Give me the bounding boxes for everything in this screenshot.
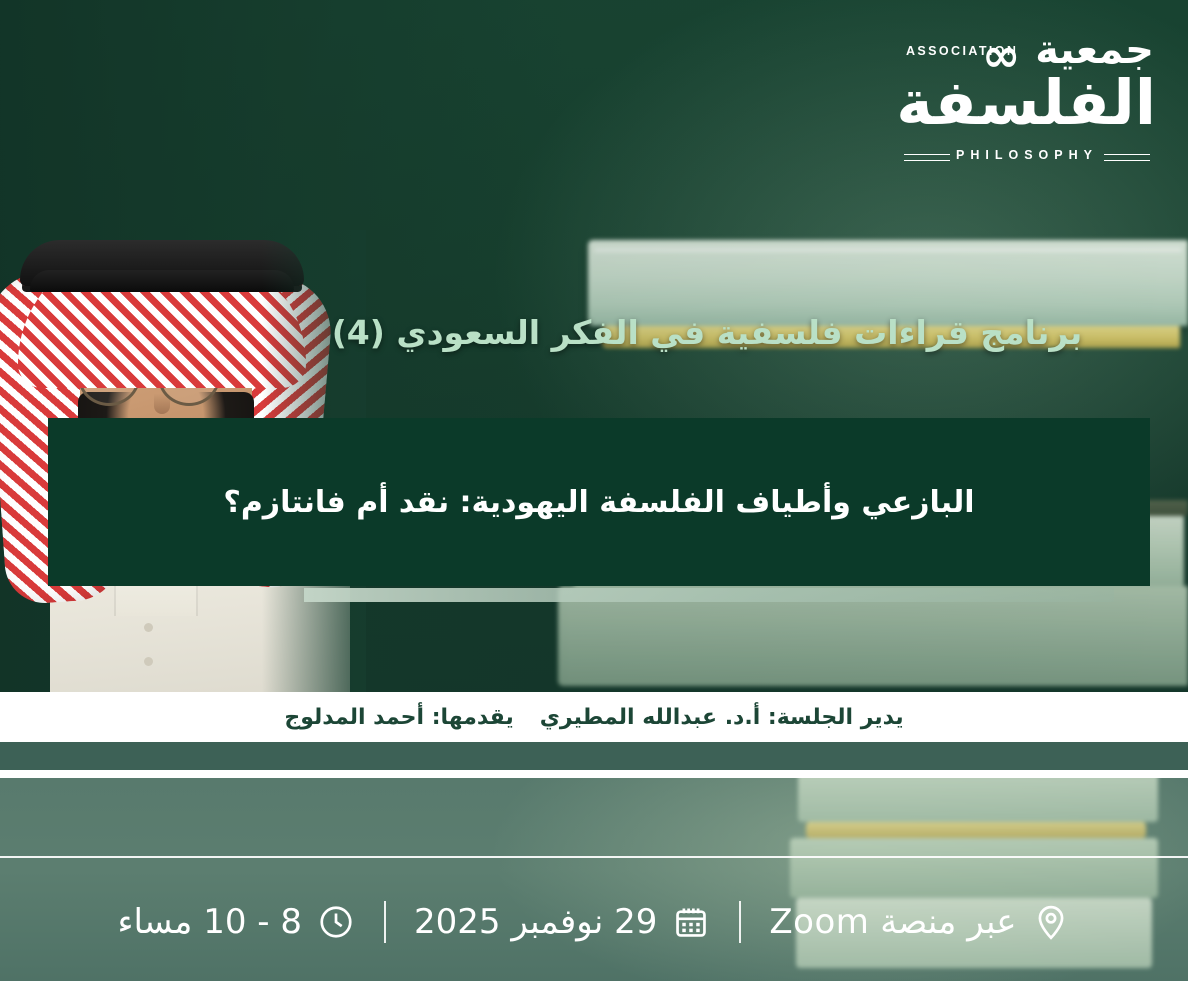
moderator-label: يدير الجلسة: أ.د. عبدالله المطيري <box>540 705 904 730</box>
bottom-book-1 <box>798 778 1158 822</box>
logo-philosophy-label: PHILOSOPHY <box>898 148 1156 162</box>
info-item-time: 8 - 10 مساء <box>90 902 385 942</box>
event-poster: ASSOCIATION ∞ جمعية الفلسفة PHILOSOPHY ب… <box>0 0 1188 981</box>
event-details-section: عبر منصة Zoom <box>0 778 1188 981</box>
speakers-bar: يدير الجلسة: أ.د. عبدالله المطيري يقدمها… <box>0 692 1188 742</box>
date-text: 29 نوفمبر 2025 <box>414 902 657 942</box>
info-separator-2 <box>384 901 386 943</box>
location-text: عبر منصة Zoom <box>769 902 1016 942</box>
association-logo: ASSOCIATION ∞ جمعية الفلسفة PHILOSOPHY <box>898 22 1156 170</box>
session-subject-text: البازعي وأطياف الفلسفة اليهودية: نقد أم … <box>189 480 1008 525</box>
info-separator-1 <box>739 901 741 943</box>
presenter-label: يقدمها: أحمد المدلوج <box>284 705 513 730</box>
program-title: برنامج قراءات فلسفية في الفكر السعودي (4… <box>262 313 1152 352</box>
info-item-date: 29 نوفمبر 2025 <box>386 902 739 942</box>
white-divider-gap <box>0 770 1188 778</box>
event-info-row: عبر منصة Zoom <box>0 874 1188 970</box>
horizontal-rule <box>0 856 1188 858</box>
clock-icon <box>316 902 356 942</box>
calendar-icon <box>671 902 711 942</box>
hero-section: ASSOCIATION ∞ جمعية الفلسفة PHILOSOPHY ب… <box>0 0 1188 692</box>
logo-arabic-main: الفلسفة <box>898 70 1156 136</box>
location-pin-icon <box>1031 902 1071 942</box>
session-subject-panel: البازعي وأطياف الفلسفة اليهودية: نقد أم … <box>48 418 1150 586</box>
green-divider-strip <box>0 742 1188 770</box>
time-text: 8 - 10 مساء <box>118 902 303 942</box>
subject-accent-bar <box>304 588 1114 602</box>
info-item-location: عبر منصة Zoom <box>741 902 1098 942</box>
bottom-book-2 <box>806 822 1146 838</box>
